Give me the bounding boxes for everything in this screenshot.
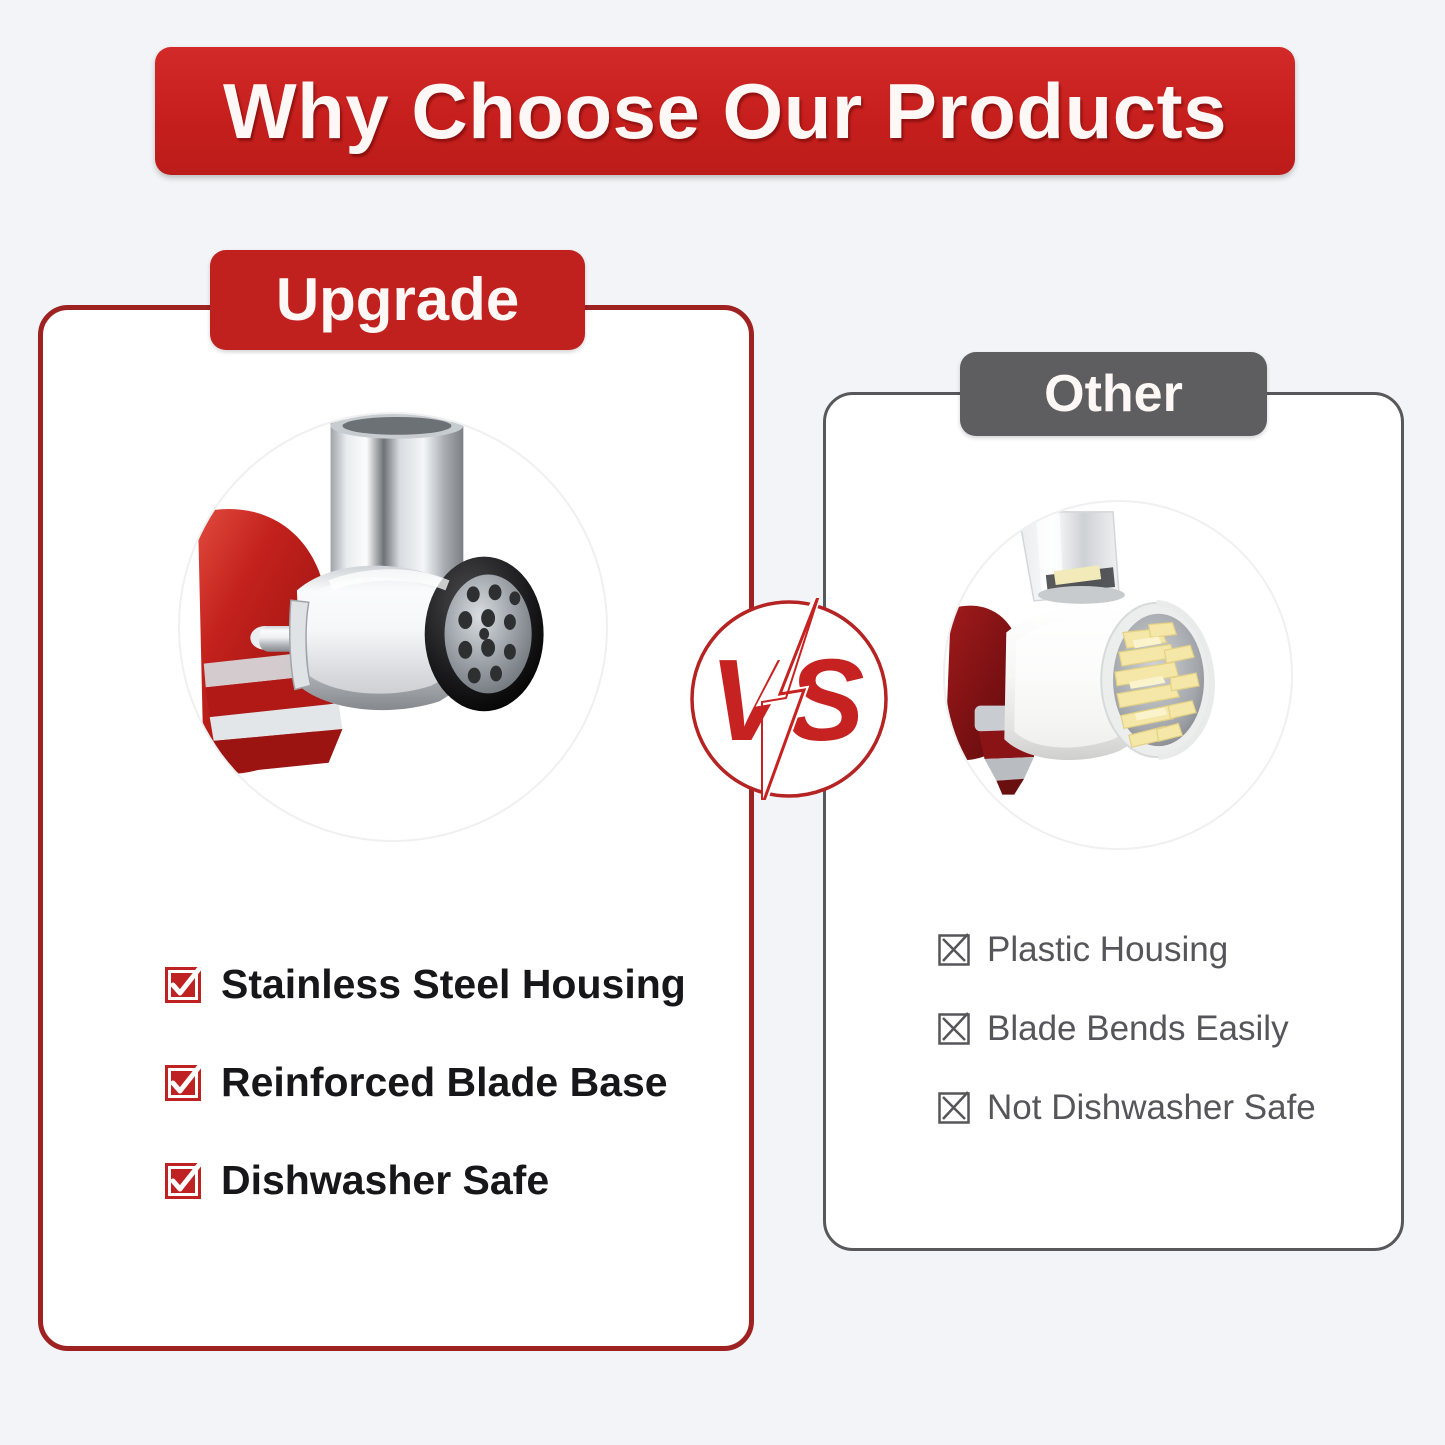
infographic-canvas: Why Choose Our Products Upgrade Other bbox=[0, 0, 1445, 1445]
page-title: Why Choose Our Products bbox=[223, 72, 1227, 150]
list-item: Blade Bends Easily bbox=[937, 1011, 1357, 1048]
list-item: Dishwasher Safe bbox=[163, 1159, 683, 1202]
other-badge: Other bbox=[960, 352, 1267, 436]
feature-label: Plastic Housing bbox=[987, 932, 1228, 969]
feature-label: Dishwasher Safe bbox=[221, 1159, 549, 1202]
upgrade-product-image bbox=[178, 412, 608, 842]
vs-emblem: VS bbox=[688, 598, 890, 800]
feature-label: Reinforced Blade Base bbox=[221, 1061, 668, 1104]
list-item: Not Dishwasher Safe bbox=[937, 1090, 1357, 1127]
crossed-checkbox-icon bbox=[937, 1012, 971, 1046]
other-badge-label: Other bbox=[1044, 368, 1183, 420]
feature-label: Blade Bends Easily bbox=[987, 1011, 1289, 1048]
list-item: Stainless Steel Housing bbox=[163, 963, 683, 1006]
checked-checkbox-icon bbox=[163, 965, 203, 1005]
upgrade-badge: Upgrade bbox=[210, 250, 585, 350]
upgrade-badge-label: Upgrade bbox=[276, 270, 519, 330]
feature-label: Not Dishwasher Safe bbox=[987, 1090, 1316, 1127]
feature-label: Stainless Steel Housing bbox=[221, 963, 686, 1006]
other-product-image bbox=[943, 500, 1293, 850]
list-item: Reinforced Blade Base bbox=[163, 1061, 683, 1104]
crossed-checkbox-icon bbox=[937, 1091, 971, 1125]
upgrade-feature-list: Stainless Steel Housing Reinforced Blade… bbox=[163, 963, 683, 1202]
crossed-checkbox-icon bbox=[937, 933, 971, 967]
checked-checkbox-icon bbox=[163, 1063, 203, 1103]
other-feature-list: Plastic Housing Blade Bends Easily Not D… bbox=[937, 932, 1357, 1126]
checked-checkbox-icon bbox=[163, 1161, 203, 1201]
list-item: Plastic Housing bbox=[937, 932, 1357, 969]
header-banner: Why Choose Our Products bbox=[155, 47, 1295, 175]
